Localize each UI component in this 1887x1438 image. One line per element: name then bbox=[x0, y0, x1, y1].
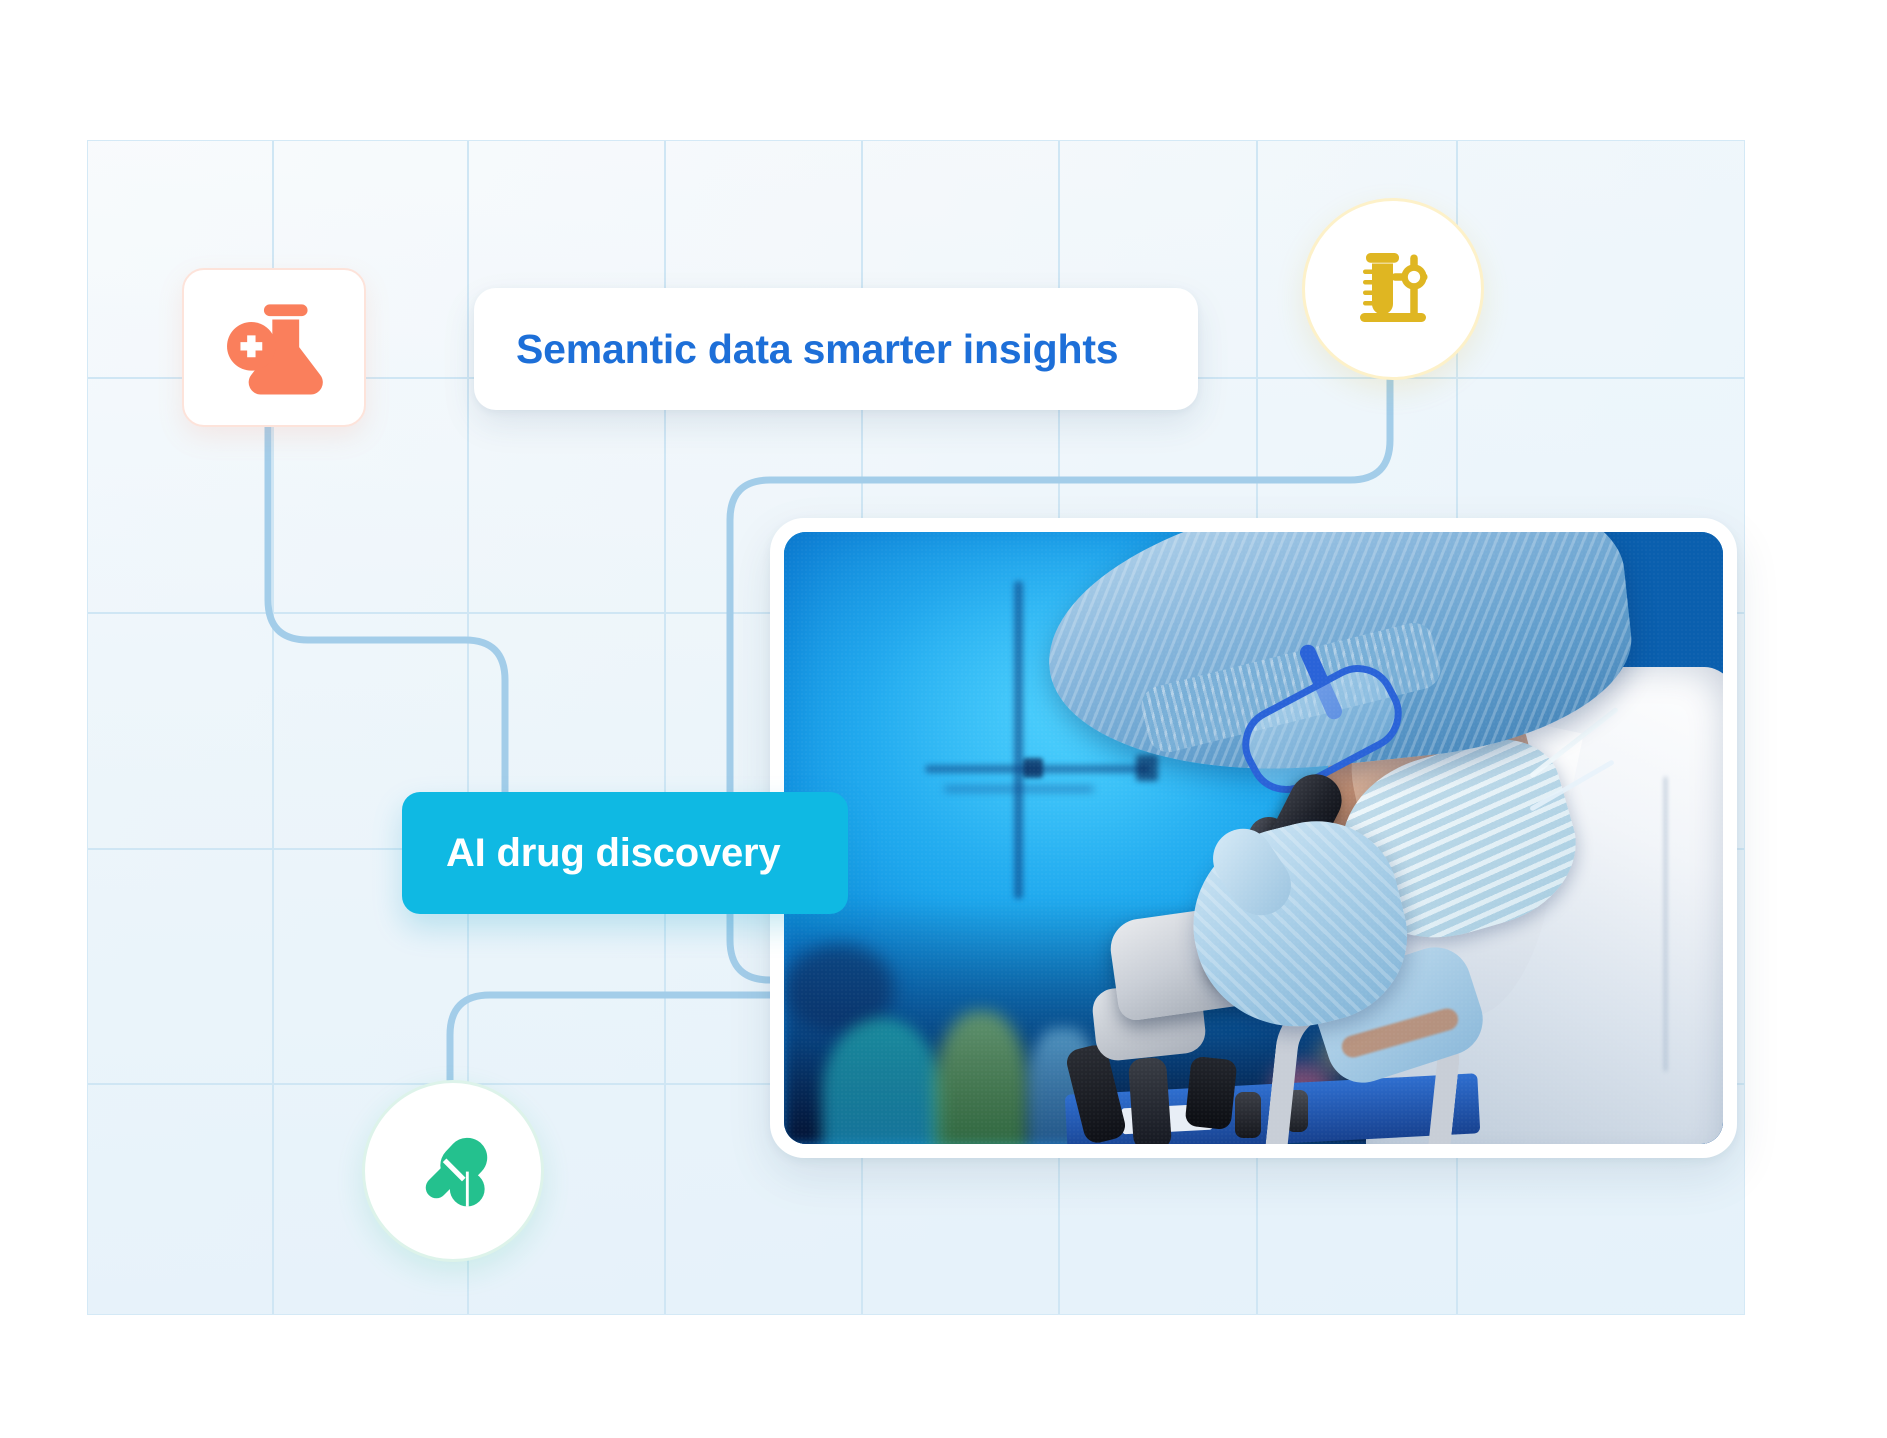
illustration-canvas: Semantic data smarter insights AI drug d… bbox=[0, 0, 1887, 1438]
node-circle-test-tube[interactable] bbox=[1302, 198, 1484, 380]
capsule-pills-icon bbox=[405, 1123, 501, 1219]
pill-ai-drug-discovery[interactable]: AI drug discovery bbox=[402, 792, 848, 914]
node-circle-pills[interactable] bbox=[362, 1080, 544, 1262]
flask-plus-icon bbox=[220, 296, 328, 400]
test-tube-stand-icon bbox=[1345, 241, 1441, 337]
lab-photo bbox=[784, 532, 1723, 1144]
lab-photo-card bbox=[770, 518, 1737, 1158]
pill-semantic-data[interactable]: Semantic data smarter insights bbox=[474, 288, 1198, 410]
node-card-flask[interactable] bbox=[182, 268, 366, 427]
pill-semantic-data-label: Semantic data smarter insights bbox=[474, 326, 1118, 373]
pill-ai-drug-discovery-label: AI drug discovery bbox=[402, 831, 780, 876]
